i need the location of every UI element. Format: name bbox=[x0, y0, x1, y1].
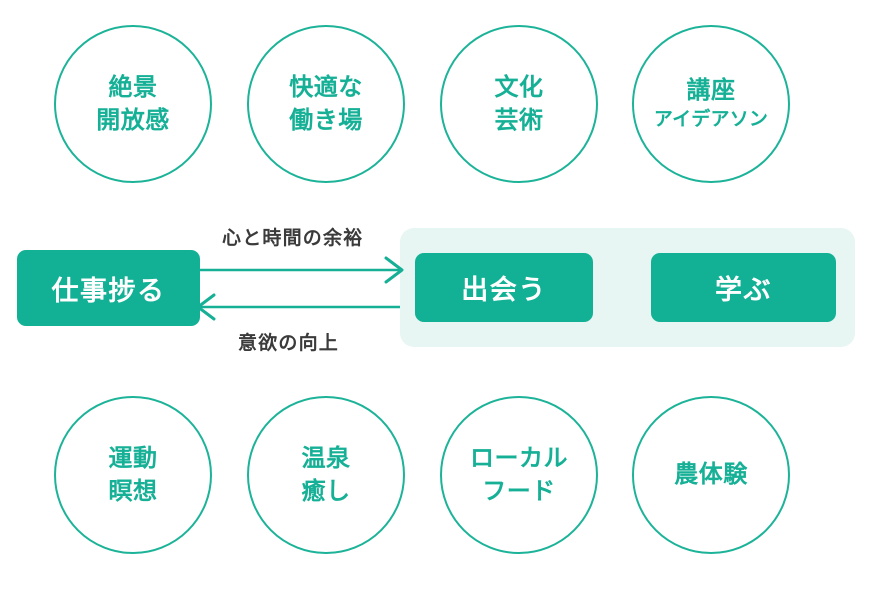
circle-hotspring-healing[interactable]: 温泉 癒し bbox=[247, 396, 405, 554]
circle-label-line: 運動 bbox=[109, 442, 158, 475]
circle-label-line: ローカル bbox=[470, 442, 568, 475]
circle-local-food[interactable]: ローカル フード bbox=[440, 396, 598, 554]
box-learn-label: 学ぶ bbox=[715, 268, 772, 307]
box-work-label: 仕事捗る bbox=[52, 269, 166, 308]
circle-label-line: アイデアソン bbox=[654, 107, 768, 133]
circle-label-line: フード bbox=[482, 475, 556, 508]
arrow-forward bbox=[200, 258, 402, 282]
arrow-backward bbox=[198, 295, 400, 319]
circle-label-line: 温泉 bbox=[302, 442, 351, 475]
circle-label-line: 講座 bbox=[687, 74, 736, 107]
circle-culture-art[interactable]: 文化 芸術 bbox=[440, 25, 598, 183]
circle-label-line: 癒し bbox=[302, 475, 351, 508]
box-learn[interactable]: 学ぶ bbox=[651, 253, 836, 322]
arrow-backward-label: 意欲の向上 bbox=[238, 328, 339, 355]
box-work[interactable]: 仕事捗る bbox=[17, 250, 200, 326]
box-meet[interactable]: 出会う bbox=[415, 253, 593, 322]
circle-label-line: 瞑想 bbox=[109, 475, 158, 508]
box-meet-label: 出会う bbox=[461, 268, 547, 307]
circle-label-line: 開放感 bbox=[96, 104, 170, 137]
circle-farm-experience[interactable]: 農体験 bbox=[632, 396, 790, 554]
circle-label-line: 芸術 bbox=[495, 104, 544, 137]
circle-label-line: 絶景 bbox=[109, 71, 158, 104]
circle-comfortable-workplace[interactable]: 快適な 働き場 bbox=[247, 25, 405, 183]
diagram-canvas: 絶景 開放感 快適な 働き場 文化 芸術 講座 アイデアソン 心と時間の余裕 意… bbox=[0, 0, 872, 591]
circle-scenery[interactable]: 絶景 開放感 bbox=[54, 25, 212, 183]
circle-label-line: 働き場 bbox=[289, 104, 363, 137]
arrow-forward-label: 心と時間の余裕 bbox=[222, 223, 363, 250]
circle-label-line: 文化 bbox=[495, 71, 544, 104]
circle-exercise-meditation[interactable]: 運動 瞑想 bbox=[54, 396, 212, 554]
circle-lecture-ideathon[interactable]: 講座 アイデアソン bbox=[632, 25, 790, 183]
circle-label-line: 農体験 bbox=[674, 458, 748, 491]
circle-label-line: 快適な bbox=[289, 71, 363, 104]
